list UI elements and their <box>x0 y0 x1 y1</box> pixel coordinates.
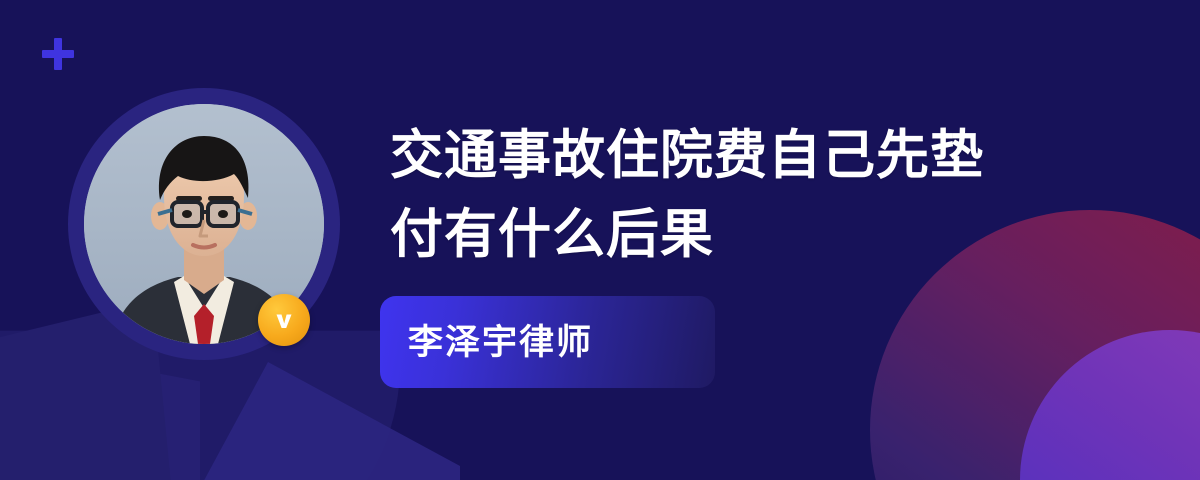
promo-banner: 交通事故住院费自己先垫 付有什么后果 李泽宇律师 <box>0 0 1200 480</box>
plus-icon <box>42 38 74 70</box>
page-title: 交通事故住院费自己先垫 付有什么后果 <box>390 116 1090 274</box>
author-badge[interactable]: 李泽宇律师 <box>380 296 715 388</box>
author-name-label: 李泽宇律师 <box>408 325 593 360</box>
avatar <box>68 88 340 360</box>
decor-circle-inner <box>1020 330 1200 480</box>
verified-check-icon <box>258 294 310 346</box>
headline-block: 交通事故住院费自己先垫 付有什么后果 <box>390 116 1090 274</box>
